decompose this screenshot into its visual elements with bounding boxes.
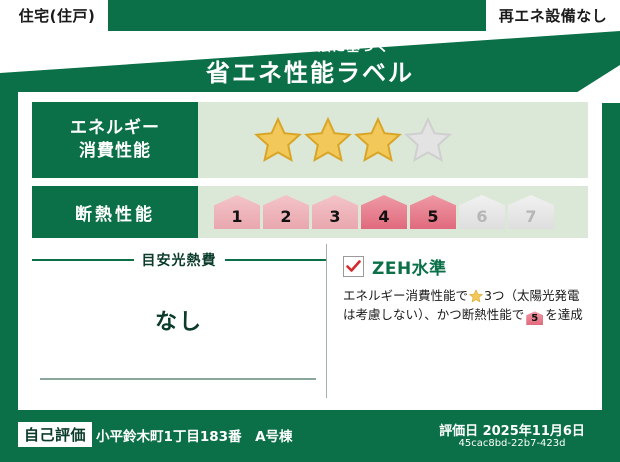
energy-cost-section: 目安光熱費 なし [32,244,326,398]
check-icon [345,258,362,275]
label-card: エネルギー 消費性能 断熱性能 1234567 目安光熱費 [18,92,602,410]
tab-renewable-energy-label: 再エネ設備なし [499,5,608,26]
star-rating [254,116,452,164]
insulation-level-1: 1 [214,195,260,229]
energy-cost-value: なし [32,304,326,336]
insulation-level-2: 2 [263,195,309,229]
insulation-level-3: 3 [312,195,358,229]
tab-building-type-label: 住宅(住戸) [19,5,96,26]
energy-performance-row: エネルギー 消費性能 [32,102,588,178]
energy-performance-key: エネルギー 消費性能 [32,102,198,178]
roof-wedge-decoration [0,31,620,93]
insulation-performance-row: 断熱性能 1234567 [32,186,588,238]
star-icon [469,289,483,303]
label-footer: 自己評価 小平鈴木町1丁目183番 A号棟 評価日 2025年11月6日 45c… [0,410,620,462]
zeh-section: ZEH水準 エネルギー消費性能で3つ（太陽光発電は考慮しない）、かつ断熱性能で5… [326,244,588,398]
star-icon [404,116,452,164]
insulation-performance-key: 断熱性能 [32,186,198,238]
zeh-title: ZEH水準 [372,254,447,279]
lower-section: 目安光熱費 なし ZEH水準 エネルギー消費性能で3つ（太陽光発電は考慮しな [32,244,588,398]
zeh-desc-level-badge: 5 [526,311,543,325]
star-icon [304,116,352,164]
insulation-level-5: 5 [410,195,456,229]
energy-performance-value [198,102,588,178]
insulation-performance-key-label: 断熱性能 [75,200,155,225]
property-address: 小平鈴木町1丁目183番 A号棟 [96,425,293,445]
evaluation-date: 評価日 2025年11月6日 [422,420,602,439]
tab-renewable-energy: 再エネ設備なし [486,0,620,31]
insulation-level-6: 6 [459,195,505,229]
energy-cost-heading-label: 目安光熱費 [142,250,217,270]
zeh-desc-part1: エネルギー消費性能で [343,288,468,303]
tab-building-type: 住宅(住戸) [0,0,108,31]
insulation-level-7: 7 [508,195,554,229]
evaluation-type-badge: 自己評価 [18,422,92,447]
energy-cost-divider [40,378,316,380]
energy-cost-heading: 目安光熱費 [32,244,326,270]
zeh-desc-part3: を達成 [545,307,583,322]
energy-performance-label: 住宅(住戸) 再エネ設備なし 建築物省エネ法に基づく 省エネ性能ラベル エネルギ… [0,0,620,462]
energy-performance-key-line2: 消費性能 [79,140,151,163]
heading-rule-left [32,259,134,261]
star-icon [354,116,402,164]
insulation-performance-value: 1234567 [198,186,588,238]
heading-rule-right [225,259,327,261]
zeh-description: エネルギー消費性能で3つ（太陽光発電は考慮しない）、かつ断熱性能で5を達成 [343,286,588,325]
zeh-checkbox[interactable] [343,256,364,277]
evaluation-id: 45cac8bd-22b7-423d [422,438,602,449]
insulation-level-4: 4 [361,195,407,229]
star-icon [254,116,302,164]
zeh-heading: ZEH水準 [343,254,588,279]
energy-performance-key-line1: エネルギー [70,117,160,140]
insulation-level-scale: 1234567 [214,195,554,229]
